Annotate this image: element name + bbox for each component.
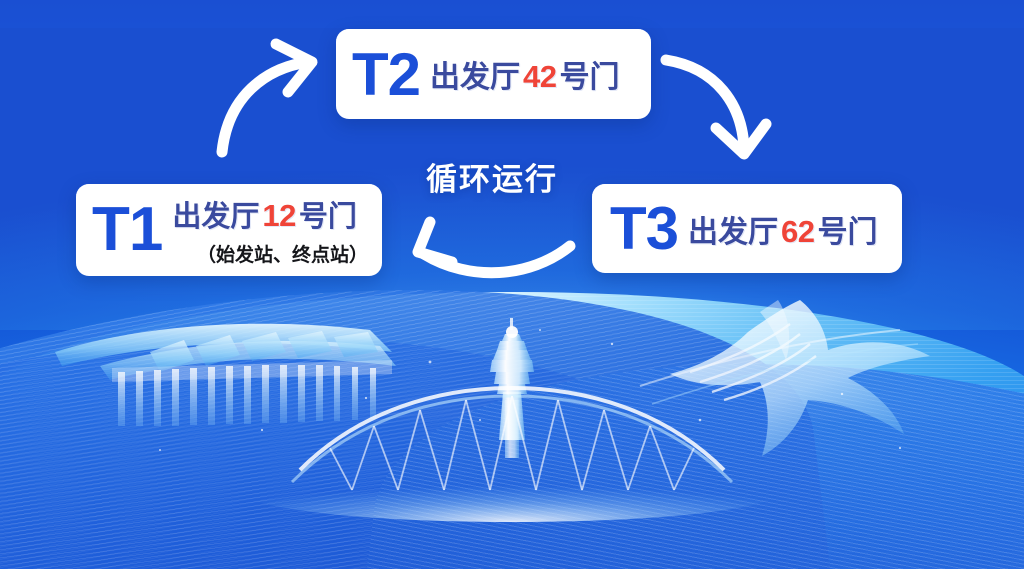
gate-number-t3: 62: [778, 214, 817, 250]
gate-line-t2: 出发厅 42 号门: [430, 52, 637, 96]
gate-suffix-t3: 号门: [818, 207, 878, 251]
station-card-t2[interactable]: T2 出发厅 42 号门: [336, 29, 651, 119]
hall-label-t1: 出发厅: [172, 193, 259, 235]
gate-line-t3: 出发厅 62 号门: [688, 207, 888, 251]
gate-number-t2: 42: [520, 59, 559, 95]
terminal-roof-colonnade: [55, 324, 396, 426]
hall-label-t2: 出发厅: [430, 52, 520, 96]
station-card-t1[interactable]: T1 出发厅 12 号门 （始发站、终点站）: [76, 184, 382, 276]
gate-number-t1: 12: [259, 198, 298, 234]
starfish-terminal: [640, 300, 930, 456]
terminal-code-t2: T2: [352, 46, 420, 103]
station-note-t1: （始发站、终点站）: [172, 240, 368, 267]
station-details-t2: 出发厅 42 号门: [430, 52, 637, 96]
poster-canvas: 循环运行 T2 出发厅 42 号门 T1 出发厅 12 号门 （始发站、终点站）…: [0, 0, 1024, 569]
gate-line-t1: 出发厅 12 号门: [172, 193, 368, 235]
station-card-t3[interactable]: T3 出发厅 62 号门: [592, 184, 902, 273]
terminal-code-t1: T1: [92, 201, 162, 260]
gate-suffix-t2: 号门: [560, 52, 620, 96]
center-label: 循环运行: [426, 154, 558, 199]
gate-suffix-t1: 号门: [299, 193, 357, 235]
terminal-code-t3: T3: [610, 200, 678, 257]
hall-label-t3: 出发厅: [688, 207, 778, 251]
station-details-t3: 出发厅 62 号门: [688, 207, 888, 251]
station-details-t1: 出发厅 12 号门 （始发站、终点站）: [172, 193, 368, 267]
